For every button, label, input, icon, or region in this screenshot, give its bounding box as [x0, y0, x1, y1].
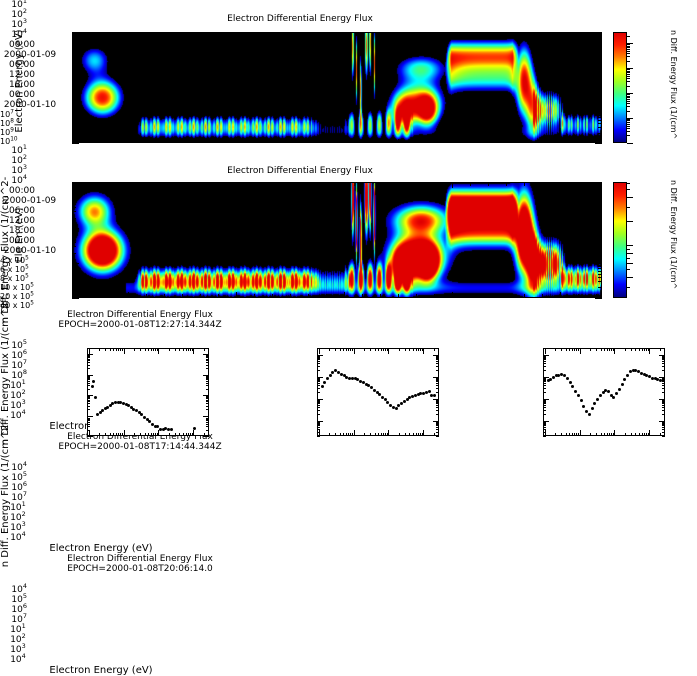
x-tick [200, 139, 201, 143]
spectrum-data-point [596, 398, 599, 401]
y-minor-tick [598, 271, 602, 272]
cb-minor-tick [627, 56, 630, 57]
x-tick [92, 294, 93, 298]
sx-minor-tick [566, 433, 567, 436]
sy-minor-tick [206, 385, 209, 386]
sx-major-tick [354, 430, 355, 436]
sy-minor-tick [317, 423, 320, 424]
cb-minor-tick [627, 131, 630, 132]
sx-minor-tick [148, 348, 149, 351]
spectrum-data-point [577, 394, 580, 397]
x-tick [524, 32, 525, 36]
sy-minor-tick [206, 377, 209, 378]
y-minor-tick [598, 117, 602, 118]
x-tick [416, 294, 417, 298]
sy-minor-tick [543, 407, 546, 408]
x-tick [542, 139, 543, 143]
spectrum-data-point [621, 383, 624, 386]
sx-minor-tick [635, 433, 636, 436]
x-tick [524, 139, 525, 143]
x-tick [308, 182, 309, 186]
x-tick [326, 139, 327, 143]
sy-minor-tick [317, 383, 320, 384]
sx-minor-tick [186, 433, 187, 436]
x-tick [596, 182, 597, 186]
sy-minor-tick [543, 385, 546, 386]
x-tick [200, 32, 201, 36]
x-tick [488, 182, 489, 186]
sy-minor-tick [317, 407, 320, 408]
sy-major-tick [543, 399, 549, 400]
spectrum-data-point [326, 377, 329, 380]
spectrum-plot-area-2 [543, 348, 665, 436]
sy-minor-tick [543, 356, 546, 357]
sy-major-tick [203, 436, 209, 437]
sy-minor-tick [662, 436, 665, 437]
cb-minor-tick [627, 49, 630, 50]
sx-minor-tick [609, 433, 610, 436]
y-minor-tick [598, 274, 602, 275]
sy-minor-tick [662, 385, 665, 386]
sy-minor-tick [662, 380, 665, 381]
sx-minor-tick [409, 348, 410, 351]
y-minor-tick [72, 199, 76, 200]
sy-minor-tick [436, 436, 439, 437]
cb-minor-tick [627, 221, 630, 222]
sy-minor-tick [317, 359, 320, 360]
y-minor-tick [72, 246, 76, 247]
sx-minor-tick [346, 348, 347, 351]
y-minor-tick [72, 66, 76, 67]
x-tick [560, 32, 561, 38]
x-tick [416, 32, 417, 36]
sx-minor-tick [335, 433, 336, 436]
sx-minor-tick [561, 433, 562, 436]
sy-major-tick [87, 436, 93, 437]
x-tick [236, 182, 237, 188]
sy-major-tick [87, 354, 93, 355]
sx-tick-label: 102 [0, 635, 36, 645]
sx-minor-tick [99, 348, 100, 351]
sy-minor-tick [206, 396, 209, 397]
y-minor-tick [598, 281, 602, 282]
cb-major-tick [627, 93, 633, 94]
sx-minor-tick [335, 348, 336, 351]
spectrum-title-0: Electron Differential Energy Flux [0, 310, 280, 320]
x-tick [146, 139, 147, 143]
cb-minor-tick [627, 103, 630, 104]
sy-minor-tick [206, 403, 209, 404]
cb-minor-tick [627, 46, 630, 47]
y-major-tick [595, 110, 602, 111]
x-tick [416, 182, 417, 186]
y-minor-tick [72, 100, 76, 101]
x-tick [560, 137, 561, 143]
x-tick [542, 182, 543, 186]
sy-minor-tick [206, 378, 209, 379]
sy-minor-tick [543, 414, 546, 415]
sy-minor-tick [317, 414, 320, 415]
y-major-tick [72, 298, 79, 299]
sx-minor-tick [642, 348, 643, 351]
y-minor-tick [72, 123, 76, 124]
sy-minor-tick [662, 427, 665, 428]
sy-minor-tick [543, 403, 546, 404]
sx-minor-tick [413, 348, 414, 351]
x-tick [542, 32, 543, 36]
sy-minor-tick [317, 378, 320, 379]
sx-minor-tick [399, 433, 400, 436]
sy-minor-tick [317, 422, 320, 423]
y-minor-tick [72, 201, 76, 202]
sy-minor-tick [206, 400, 209, 401]
sy-minor-tick [206, 359, 209, 360]
sx-minor-tick [383, 433, 384, 436]
panel2-ylabel: Ele En (eV) [14, 180, 25, 290]
x-tick [254, 32, 255, 36]
sy-minor-tick [662, 379, 665, 380]
y-minor-tick [72, 287, 76, 288]
sy-minor-tick [317, 356, 320, 357]
y-minor-tick [72, 239, 76, 240]
sx-minor-tick [381, 433, 382, 436]
y-minor-tick [72, 234, 76, 235]
sx-major-tick [124, 430, 125, 436]
sy-minor-tick [87, 381, 90, 382]
x-tick [578, 182, 579, 186]
sy-minor-tick [87, 377, 90, 378]
spectrum-data-point [323, 381, 326, 384]
sy-minor-tick [662, 388, 665, 389]
sy-minor-tick [436, 388, 439, 389]
cb-minor-tick [627, 78, 630, 79]
y-minor-tick [72, 111, 76, 112]
x-tick [146, 294, 147, 298]
x-tick [326, 182, 327, 186]
sx-minor-tick [596, 348, 597, 351]
y-minor-tick [72, 271, 76, 272]
sx-minor-tick [625, 348, 626, 351]
sy-minor-tick [436, 424, 439, 425]
cb-minor-tick [627, 245, 630, 246]
sy-minor-tick [436, 401, 439, 402]
sy-minor-tick [436, 423, 439, 424]
sy-minor-tick [662, 429, 665, 430]
sy-minor-tick [543, 405, 546, 406]
cb-minor-tick [627, 74, 630, 75]
sx-minor-tick [416, 348, 417, 351]
spectrum-data-point [94, 396, 97, 399]
y-major-tick [72, 143, 79, 144]
sy-minor-tick [662, 423, 665, 424]
x-tick [434, 32, 435, 36]
sy-minor-tick [87, 419, 90, 420]
cb-minor-tick [627, 71, 630, 72]
sy-minor-tick [436, 402, 439, 403]
cb-minor-tick [627, 72, 630, 73]
x-tick [380, 32, 381, 36]
y-minor-tick [72, 268, 76, 269]
sx-minor-tick [175, 348, 176, 351]
sy-minor-tick [206, 419, 209, 420]
sy-minor-tick [87, 383, 90, 384]
x-tick [110, 139, 111, 143]
y-minor-tick [72, 89, 76, 90]
y-major-tick [72, 110, 79, 111]
y-minor-tick [72, 53, 76, 54]
y-minor-tick [72, 253, 76, 254]
sx-minor-tick [590, 348, 591, 351]
sy-minor-tick [662, 366, 665, 367]
x-tick [92, 182, 93, 186]
x-tick [596, 139, 597, 143]
cb-minor-tick [627, 263, 630, 264]
cb-minor-tick [627, 111, 630, 112]
cb-minor-tick [627, 128, 630, 129]
sy-minor-tick [436, 379, 439, 380]
y-minor-tick [598, 84, 602, 85]
sy-minor-tick [543, 361, 546, 362]
x-tick [488, 139, 489, 143]
sy-minor-tick [543, 427, 546, 428]
sx-minor-tick [590, 433, 591, 436]
sy-minor-tick [543, 359, 546, 360]
panel2-plot-area [72, 182, 602, 298]
sy-minor-tick [436, 407, 439, 408]
cb-minor-tick [627, 106, 630, 107]
sy-minor-tick [543, 357, 546, 358]
panel1-plot-area [72, 32, 602, 143]
sx-major-tick [649, 430, 650, 436]
x-tick [470, 32, 471, 36]
x-tick [236, 32, 237, 38]
sy-minor-tick [87, 379, 90, 380]
sy-minor-tick [436, 432, 439, 433]
sx-major-tick [388, 348, 389, 354]
sy-minor-tick [543, 424, 546, 425]
panel2-spectrogram-image [73, 183, 601, 297]
y-minor-tick [72, 207, 76, 208]
sy-minor-tick [206, 416, 209, 417]
x-tick [452, 32, 453, 38]
x-tick [272, 294, 273, 298]
y-minor-tick [598, 100, 602, 101]
sy-major-tick [433, 399, 439, 400]
y-minor-tick [598, 60, 602, 61]
sy-minor-tick [206, 360, 209, 361]
sx-minor-tick [169, 348, 170, 351]
cb-minor-tick [627, 189, 630, 190]
y-major-tick [595, 143, 602, 144]
x-tick [542, 294, 543, 298]
sx-minor-tick [434, 348, 435, 351]
y-minor-tick [598, 94, 602, 95]
sx-major-tick [193, 430, 194, 436]
sy-minor-tick [436, 383, 439, 384]
x-tick [236, 137, 237, 143]
cb-major-tick [627, 118, 633, 119]
y-minor-tick [72, 266, 76, 267]
x-tick [470, 139, 471, 143]
sy-minor-tick [543, 422, 546, 423]
sy-minor-tick [317, 379, 320, 380]
sx-minor-tick [381, 348, 382, 351]
sx-minor-tick [153, 433, 154, 436]
sy-minor-tick [662, 370, 665, 371]
sy-minor-tick [436, 361, 439, 362]
x-tick [398, 32, 399, 36]
sx-minor-tick [569, 348, 570, 351]
sy-minor-tick [206, 376, 209, 377]
y-minor-tick [72, 86, 76, 87]
y-minor-tick [598, 232, 602, 233]
panel2-colorbar-label: n Diff. Energy Flux (1/(cm^ [669, 180, 678, 320]
spectrum-data-point [91, 385, 94, 388]
x-tick [146, 182, 147, 186]
x-tick [128, 182, 129, 188]
sx-minor-tick [169, 433, 170, 436]
y-minor-tick [598, 44, 602, 45]
sx-minor-tick [604, 348, 605, 351]
x-tick [272, 182, 273, 186]
sx-major-tick [89, 430, 90, 436]
sy-minor-tick [662, 425, 665, 426]
sx-minor-tick [113, 433, 114, 436]
sy-minor-tick [436, 359, 439, 360]
y-minor-tick [72, 195, 76, 196]
cb-minor-tick [627, 287, 630, 288]
sy-minor-tick [662, 414, 665, 415]
sx-minor-tick [642, 433, 643, 436]
sx-minor-tick [340, 348, 341, 351]
sy-minor-tick [206, 383, 209, 384]
x-tick [110, 32, 111, 36]
sx-minor-tick [140, 433, 141, 436]
sx-major-tick [649, 348, 650, 354]
sy-minor-tick [87, 360, 90, 361]
sx-minor-tick [348, 433, 349, 436]
y-minor-tick [72, 127, 76, 128]
sy-major-tick [203, 416, 209, 417]
y-minor-tick [72, 48, 76, 49]
cb-minor-tick [627, 96, 630, 97]
spectrum-subtitle-2: EPOCH=2000-01-08T20:06:14.0 [0, 564, 280, 574]
sx-minor-tick [329, 348, 330, 351]
cb-minor-tick [627, 124, 630, 125]
sy-minor-tick [543, 423, 546, 424]
sy-minor-tick [317, 357, 320, 358]
cb-minor-tick [627, 119, 630, 120]
sx-minor-tick [601, 433, 602, 436]
sy-minor-tick [206, 362, 209, 363]
sx-minor-tick [188, 348, 189, 351]
x-tick [164, 294, 165, 298]
sx-minor-tick [639, 433, 640, 436]
y-minor-tick [598, 218, 602, 219]
panel1-colorbar-label: n Diff. Energy Flux (1/(cm^ [669, 30, 678, 170]
x-tick-date: 2000-01-09 [0, 50, 60, 60]
x-tick [524, 182, 525, 186]
y-minor-tick [72, 265, 76, 266]
sy-minor-tick [317, 363, 320, 364]
y-minor-tick [598, 230, 602, 231]
sy-minor-tick [206, 381, 209, 382]
sx-minor-tick [566, 348, 567, 351]
sy-minor-tick [317, 424, 320, 425]
sx-minor-tick [175, 433, 176, 436]
x-tick [272, 32, 273, 36]
spectrum-data-point [618, 388, 621, 391]
spectrum-data-point [92, 380, 95, 383]
y-minor-tick [598, 111, 602, 112]
sy-minor-tick [87, 420, 90, 421]
sy-major-tick [543, 377, 549, 378]
sy-minor-tick [436, 410, 439, 411]
sx-tick-label: 101 [0, 625, 36, 635]
sx-major-tick [354, 348, 355, 354]
sx-minor-tick [378, 348, 379, 351]
sy-minor-tick [662, 402, 665, 403]
sy-major-tick [87, 416, 93, 417]
x-tick [218, 139, 219, 143]
cb-minor-tick [627, 207, 630, 208]
sy-major-tick [203, 354, 209, 355]
x-tick [560, 182, 561, 188]
sx-minor-tick [572, 433, 573, 436]
cb-major-tick [627, 68, 633, 69]
sx-minor-tick [644, 433, 645, 436]
x-tick [524, 294, 525, 298]
sy-minor-tick [543, 402, 546, 403]
y-minor-tick [72, 50, 76, 51]
sy-major-tick [433, 377, 439, 378]
sy-minor-tick [436, 425, 439, 426]
cb-minor-tick [627, 135, 630, 136]
x-tick [290, 139, 291, 143]
y-minor-tick [72, 230, 76, 231]
sx-minor-tick [434, 433, 435, 436]
sx-minor-tick [186, 348, 187, 351]
y-major-tick [72, 228, 79, 229]
sx-major-tick [158, 430, 159, 436]
y-minor-tick [72, 94, 76, 95]
sy-minor-tick [436, 366, 439, 367]
sx-minor-tick [370, 348, 371, 351]
x-tick [182, 294, 183, 298]
sy-major-tick [659, 355, 665, 356]
sx-minor-tick [348, 348, 349, 351]
y-minor-tick [598, 211, 602, 212]
sx-minor-tick [644, 348, 645, 351]
y-minor-tick [598, 265, 602, 266]
sy-minor-tick [206, 357, 209, 358]
x-tick [362, 139, 363, 143]
sx-minor-tick [574, 433, 575, 436]
x-tick [434, 139, 435, 143]
x-tick [182, 182, 183, 186]
sx-major-tick [319, 348, 320, 354]
cb-minor-tick [627, 101, 630, 102]
x-tick [74, 294, 75, 298]
sy-minor-tick [87, 424, 90, 425]
y-minor-tick [72, 84, 76, 85]
sx-minor-tick [660, 348, 661, 351]
sx-minor-tick [151, 348, 152, 351]
sy-minor-tick [87, 398, 90, 399]
sy-minor-tick [206, 398, 209, 399]
sy-minor-tick [87, 368, 90, 369]
sx-minor-tick [572, 348, 573, 351]
